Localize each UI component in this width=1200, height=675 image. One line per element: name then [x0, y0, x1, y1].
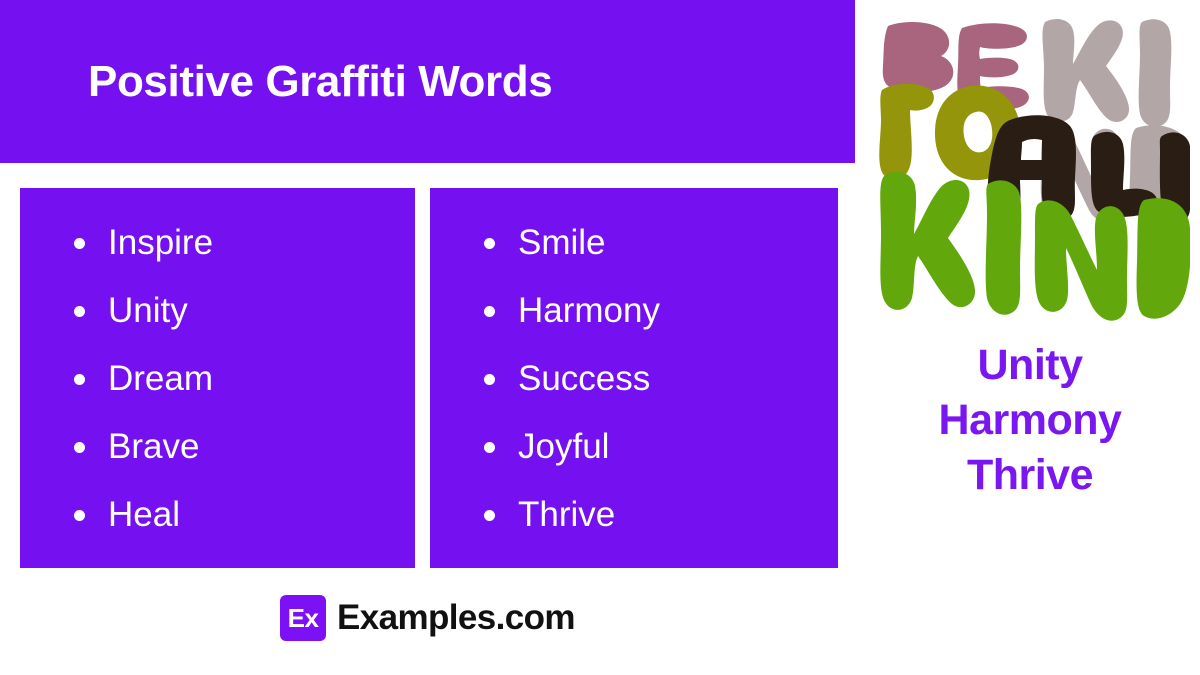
word-card-left: Inspire Unity Dream Brave Heal [20, 188, 415, 568]
list-item: Heal [66, 497, 415, 532]
brand-logo: Ex Examples.com [0, 595, 855, 641]
graffiti-word-kind-top [1042, 19, 1171, 127]
logo-wordmark: Examples.com [337, 598, 575, 638]
list-item: Unity [66, 293, 415, 328]
list-item: Brave [66, 429, 415, 464]
sample-word: Harmony [860, 393, 1200, 448]
left-column-region: Positive Graffiti Words Inspire Unity Dr… [0, 0, 860, 675]
logo-badge-icon: Ex [280, 595, 326, 641]
header-banner: Positive Graffiti Words [0, 0, 855, 163]
right-column-region: Unity Harmony Thrive [860, 0, 1200, 675]
sample-word: Unity [860, 338, 1200, 393]
page-title: Positive Graffiti Words [0, 57, 552, 107]
list-item: Smile [476, 225, 838, 260]
graffiti-lettering-illustration [870, 8, 1190, 328]
sidebar-sample-words: Unity Harmony Thrive [860, 338, 1200, 503]
word-list-right: Smile Harmony Success Joyful Thrive [430, 225, 838, 532]
word-cards-container: Inspire Unity Dream Brave Heal Smile Har… [20, 188, 838, 568]
list-item: Thrive [476, 497, 838, 532]
list-item: Success [476, 361, 838, 396]
poster-canvas: Positive Graffiti Words Inspire Unity Dr… [0, 0, 1200, 675]
list-item: Dream [66, 361, 415, 396]
list-item: Harmony [476, 293, 838, 328]
sample-word: Thrive [860, 448, 1200, 503]
list-item: Joyful [476, 429, 838, 464]
word-card-right: Smile Harmony Success Joyful Thrive [430, 188, 838, 568]
list-item: Inspire [66, 225, 415, 260]
word-list-left: Inspire Unity Dream Brave Heal [20, 225, 415, 532]
